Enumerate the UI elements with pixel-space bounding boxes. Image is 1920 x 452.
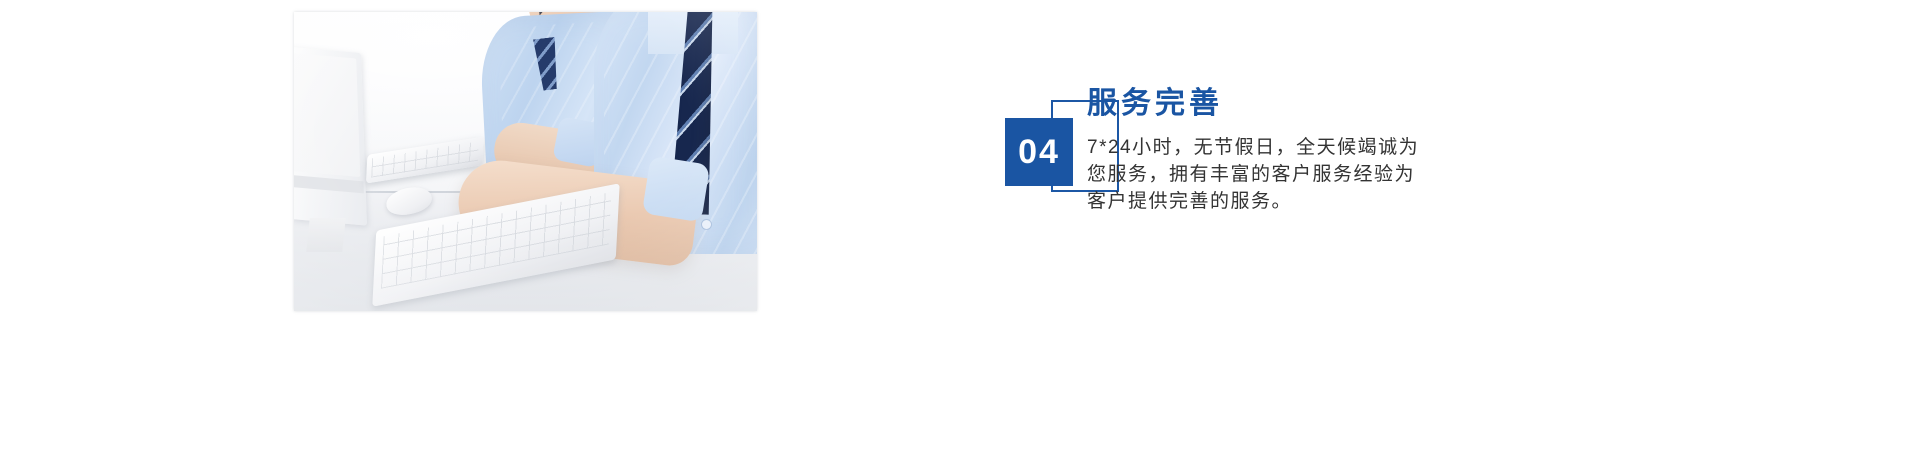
feature-description: 7*24小时，无节假日，全天候竭诚为 您服务，拥有丰富的客户服务经验为 客户提供… <box>1087 134 1487 215</box>
feature-title: 服务完善 <box>1087 86 1507 122</box>
feature-banner: 04 服务完善 7*24小时，无节假日，全天候竭诚为 您服务，拥有丰富的客户服务… <box>0 0 1920 452</box>
feature-description-line-2: 您服务，拥有丰富的客户服务经验为 <box>1087 164 1415 185</box>
monitor-screen <box>294 53 360 177</box>
feature-description-line-1: 7*24小时，无节假日，全天候竭诚为 <box>1087 137 1419 158</box>
shirt-button <box>702 220 711 229</box>
monitor-stand <box>306 218 346 252</box>
monitor-strip <box>294 175 364 193</box>
feature-description-line-3: 客户提供完善的服务。 <box>1087 191 1292 212</box>
feature-photo <box>294 12 757 311</box>
badge-number-label: 04 <box>1018 135 1060 169</box>
feature-text-column: 服务完善 7*24小时，无节假日，全天候竭诚为 您服务，拥有丰富的客户服务经验为… <box>1087 86 1507 215</box>
computer-monitor-icon <box>294 46 367 225</box>
photo-canvas <box>294 12 757 311</box>
agent-cuff <box>642 156 710 223</box>
agent-with-striped-tie <box>594 12 757 292</box>
badge-solid-box: 04 <box>1005 118 1073 186</box>
